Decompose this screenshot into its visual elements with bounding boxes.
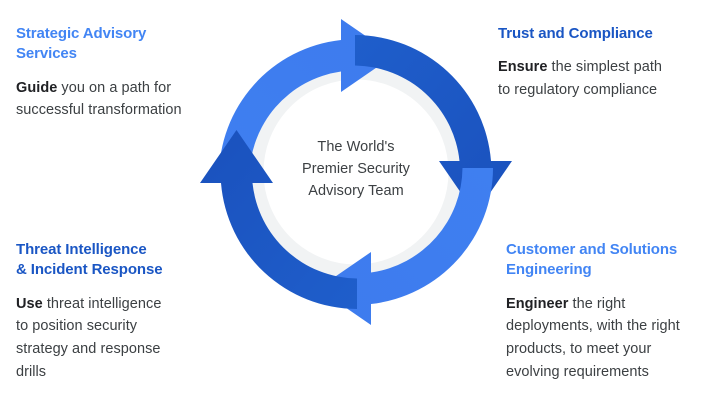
quadrant-heading: Trust and Compliance bbox=[498, 24, 698, 44]
body-lead-word: Engineer bbox=[506, 296, 568, 312]
center-caption-line-2: Premier Security bbox=[276, 158, 436, 180]
heading-line-1: Trust and Compliance bbox=[498, 24, 698, 44]
heading-line-1: Threat Intelligence bbox=[16, 240, 206, 260]
body-line-2: deployments, with the right bbox=[506, 315, 706, 338]
quadrant-body: Guide you on a path for successful trans… bbox=[16, 77, 206, 123]
body-line-4: evolving requirements bbox=[506, 361, 706, 384]
quadrant-trust-and-compliance: Trust and Compliance Ensure the simplest… bbox=[498, 24, 698, 102]
body-line-3: strategy and response bbox=[16, 338, 206, 361]
quadrant-strategic-advisory-services: Strategic Advisory Services Guide you on… bbox=[16, 24, 206, 122]
body-line-1-rest: threat intelligence bbox=[43, 296, 162, 312]
quadrant-customer-and-solutions-engineering: Customer and Solutions Engineering Engin… bbox=[506, 240, 706, 384]
quadrant-body: Ensure the simplest path to regulatory c… bbox=[498, 56, 698, 102]
body-line-1: Engineer the right bbox=[506, 293, 706, 316]
body-line-2: to regulatory compliance bbox=[498, 79, 698, 102]
cycle-diagram: The World's Premier Security Advisory Te… bbox=[0, 0, 712, 400]
body-line-1-rest: you on a path for bbox=[57, 80, 171, 96]
heading-line-2: Services bbox=[16, 44, 206, 64]
body-lead-word: Guide bbox=[16, 80, 57, 96]
body-line-1: Ensure the simplest path bbox=[498, 56, 698, 79]
body-line-4: drills bbox=[16, 361, 206, 384]
heading-line-2: & Incident Response bbox=[16, 260, 206, 280]
heading-line-1: Customer and Solutions bbox=[506, 240, 706, 260]
heading-line-1: Strategic Advisory bbox=[16, 24, 206, 44]
body-lead-word: Ensure bbox=[498, 59, 547, 75]
body-line-1-rest: the simplest path bbox=[547, 59, 662, 75]
body-line-3: products, to meet your bbox=[506, 338, 706, 361]
quadrant-heading: Strategic Advisory Services bbox=[16, 24, 206, 65]
body-line-1: Use threat intelligence bbox=[16, 293, 206, 316]
quadrant-body: Use threat intelligence to position secu… bbox=[16, 293, 206, 385]
center-caption-line-1: The World's bbox=[276, 136, 436, 158]
body-line-2: successful transformation bbox=[16, 99, 206, 122]
center-caption-line-3: Advisory Team bbox=[276, 180, 436, 202]
body-lead-word: Use bbox=[16, 296, 43, 312]
quadrant-heading: Customer and Solutions Engineering bbox=[506, 240, 706, 281]
center-caption: The World's Premier Security Advisory Te… bbox=[276, 136, 436, 202]
quadrant-threat-intelligence-incident-response: Threat Intelligence & Incident Response … bbox=[16, 240, 206, 384]
body-line-1-rest: the right bbox=[568, 296, 625, 312]
quadrant-body: Engineer the right deployments, with the… bbox=[506, 293, 706, 385]
quadrant-heading: Threat Intelligence & Incident Response bbox=[16, 240, 206, 281]
heading-line-2: Engineering bbox=[506, 260, 706, 280]
body-line-1: Guide you on a path for bbox=[16, 77, 206, 100]
body-line-2: to position security bbox=[16, 315, 206, 338]
